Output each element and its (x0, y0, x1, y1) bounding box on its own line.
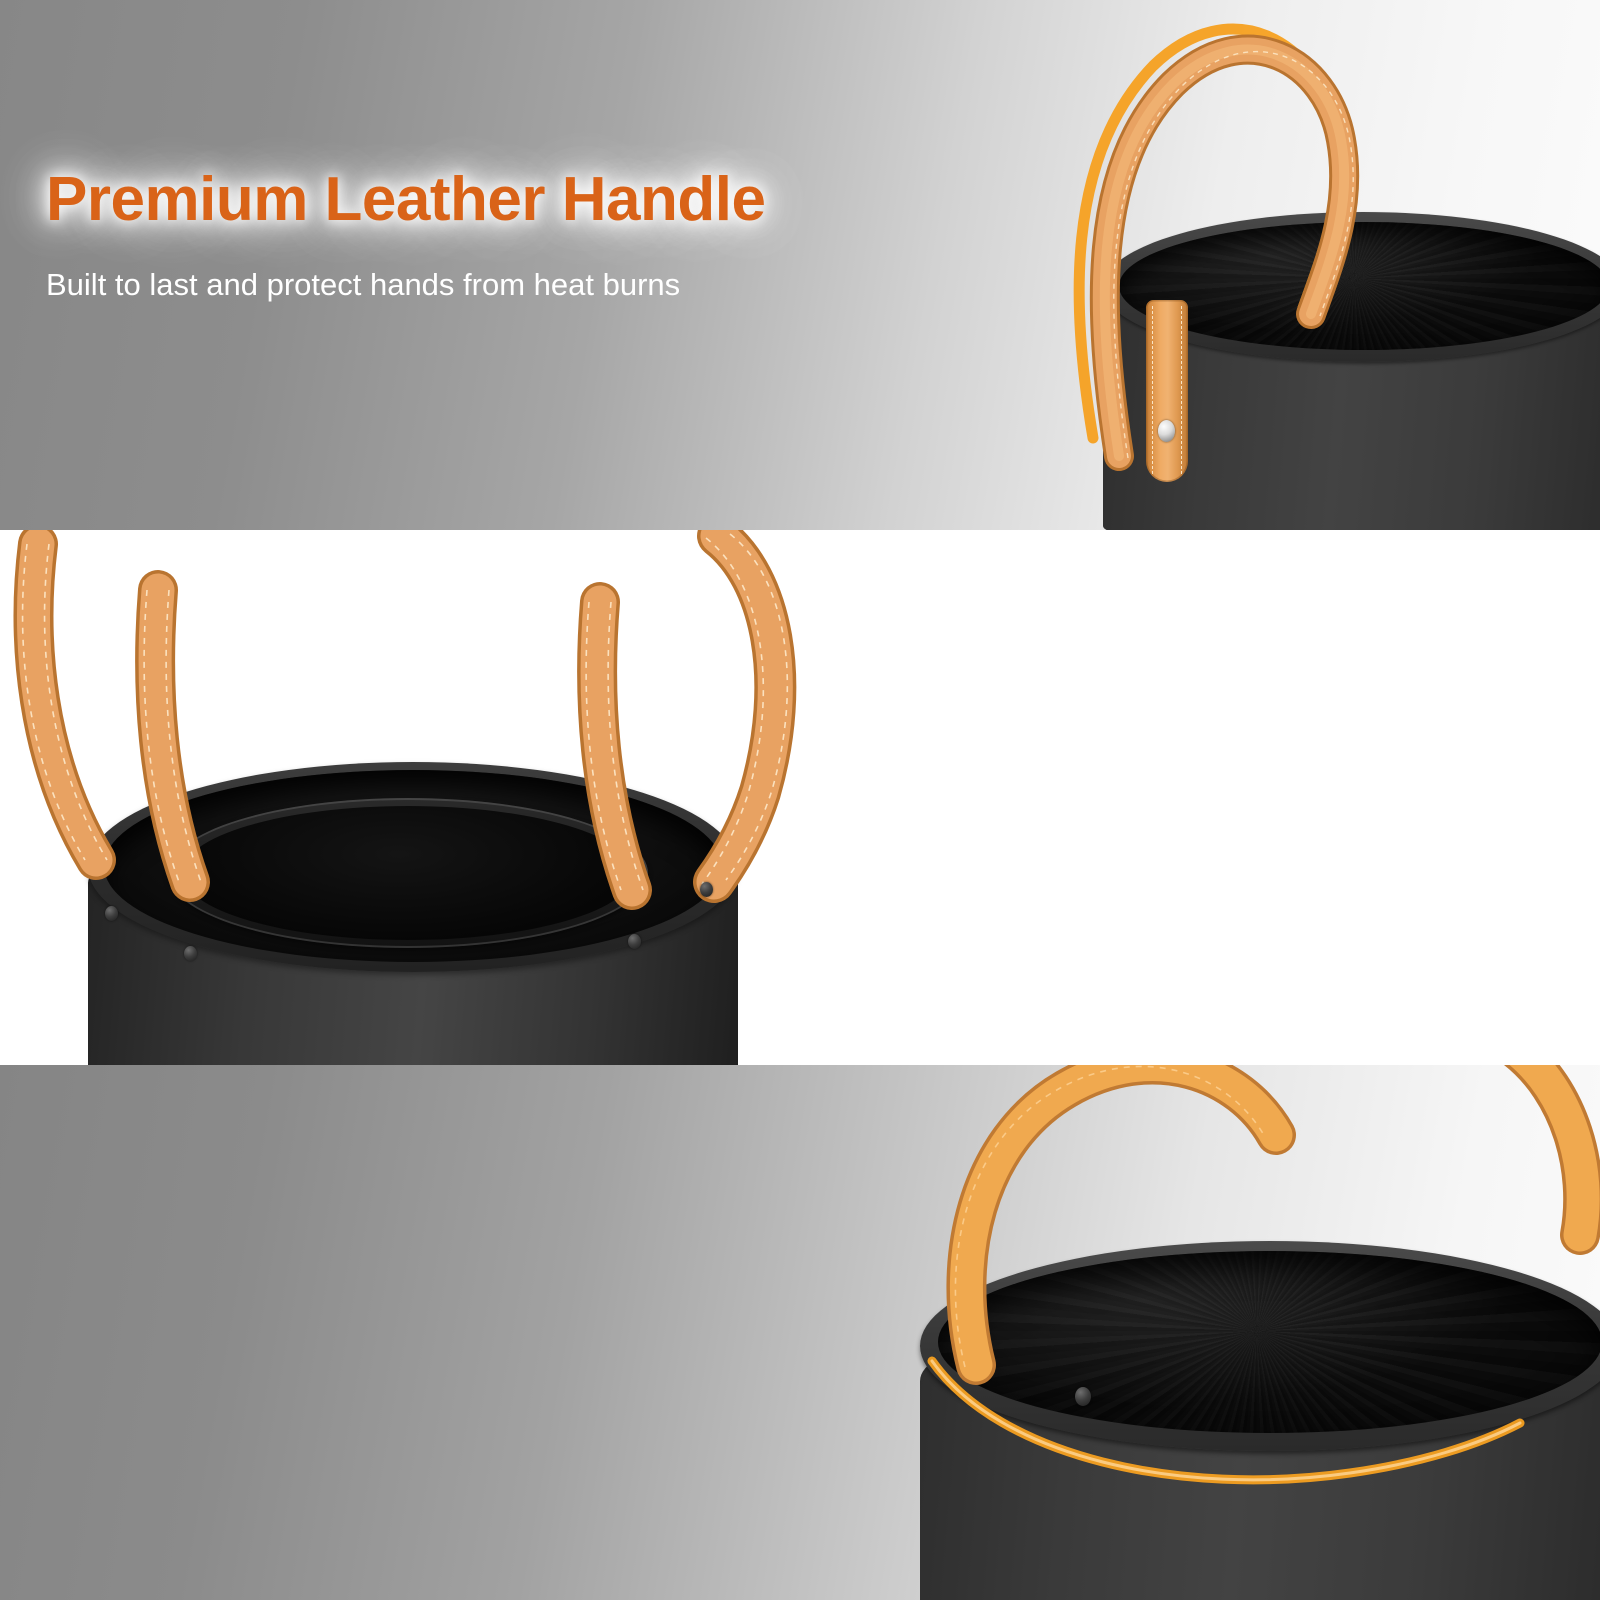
feature-panel-stackable-design: AY Stackable Design Easy for storage whe… (0, 530, 1600, 1065)
bucket-with-leather-handle-image (1015, 0, 1600, 530)
leather-handle (144, 590, 201, 882)
leather-handle (702, 534, 787, 884)
handle-rivet (1075, 1387, 1091, 1406)
panel-1-headline: Premium Leather Handle (46, 168, 765, 232)
leather-handle (1035, 8, 1375, 478)
stacked-buckets-image: AY (0, 530, 820, 1065)
panel-1-subline: Built to last and protect hands from hea… (46, 266, 765, 305)
feature-panel-premium-leather-handle: Premium Leather Handle Built to last and… (0, 0, 1600, 530)
feature-panel-smooth-rounded-edge: Smooth Rounded Edge Ensuring a safe usin… (0, 1065, 1600, 1600)
leather-handle (955, 1065, 1276, 1367)
handle-rivet (184, 946, 197, 961)
panel-1-copy: Premium Leather Handle Built to last and… (46, 168, 765, 305)
feature-highlight-sheet: Premium Leather Handle Built to last and… (0, 0, 1600, 1600)
leather-handle (23, 544, 107, 860)
leather-handles-group (0, 530, 820, 1065)
handle-rivet (700, 882, 713, 897)
strap-stitching (1152, 306, 1153, 474)
bucket-rolled-rim-image (880, 1065, 1600, 1600)
leather-handle (586, 602, 643, 890)
strap-stitching (1181, 306, 1182, 474)
leather-handle (1516, 1065, 1583, 1235)
handle-rivet (1158, 420, 1175, 442)
leather-handles-group (880, 1065, 1600, 1600)
handle-rivet (105, 906, 118, 921)
handle-rivet (628, 934, 641, 949)
